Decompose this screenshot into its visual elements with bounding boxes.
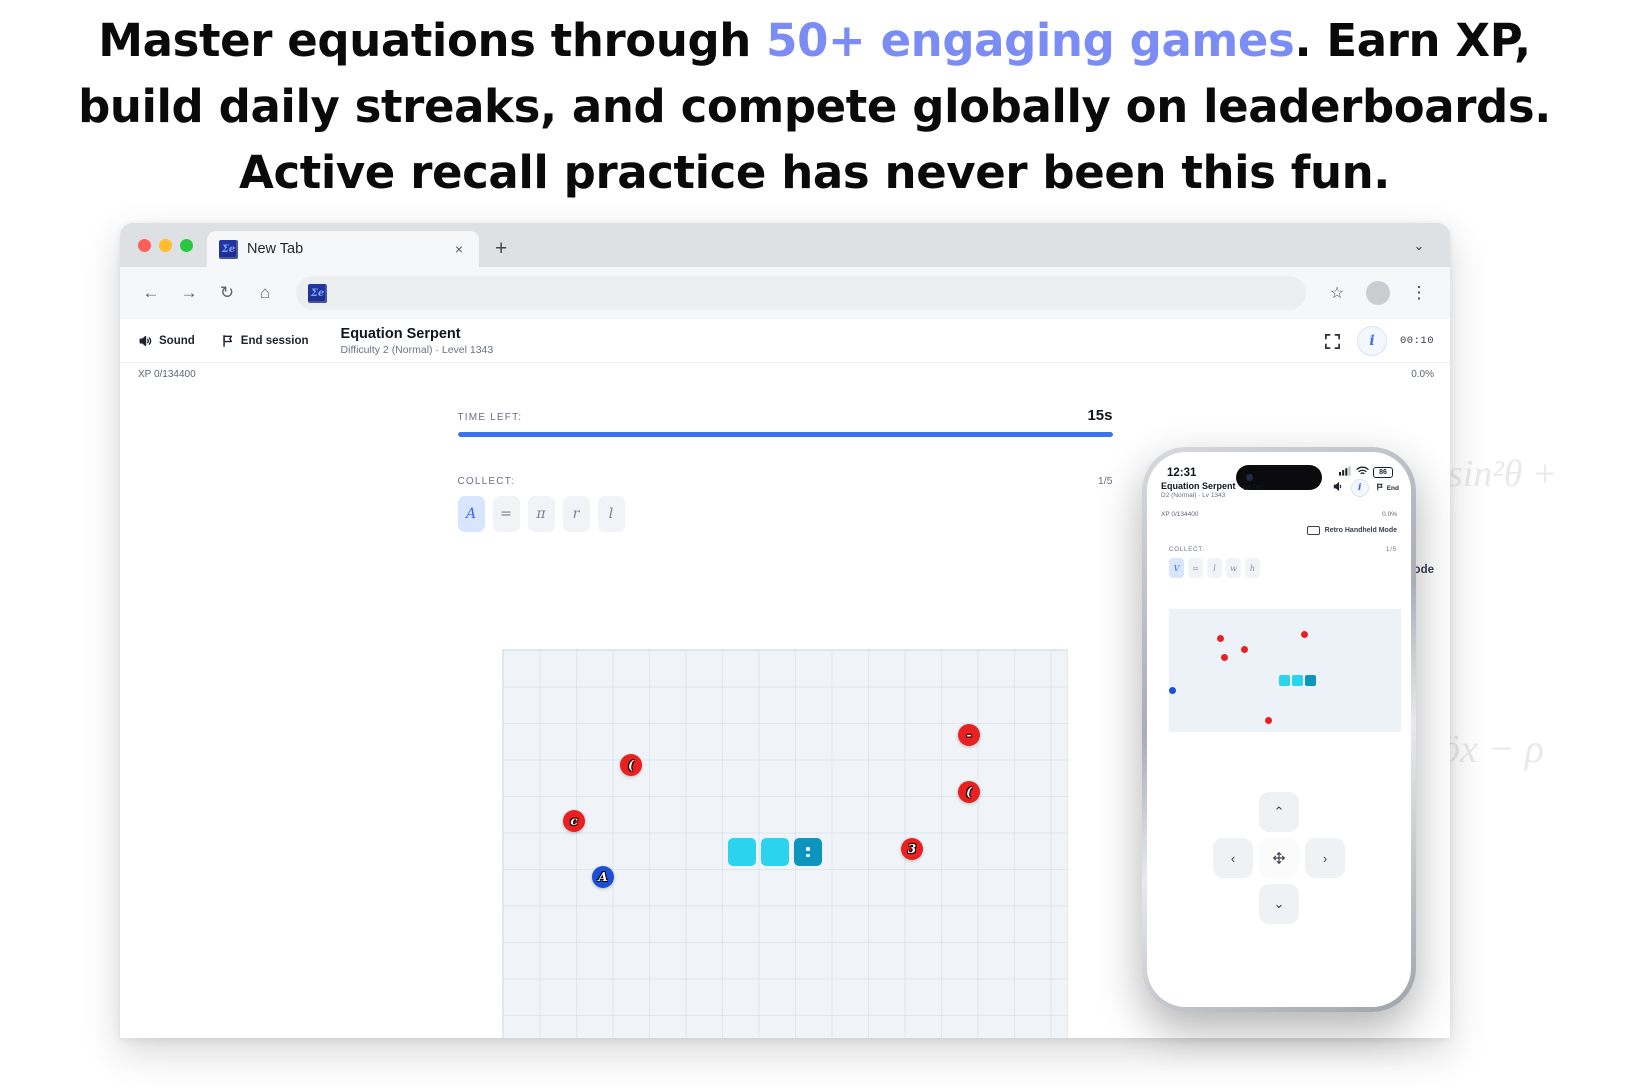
phone-snake-segment-0 [1279,675,1290,686]
collect-count: 1/5 [1098,475,1113,487]
bookmark-star-icon[interactable]: ☆ [1320,276,1354,310]
phone-collect-tile-0: V [1169,558,1184,578]
snake-segment-1 [761,838,789,866]
phone-collect-count: 1/5 [1386,547,1397,553]
phone-collect-row: COLLECT: 1/5 [1169,547,1411,553]
phone-game-header: Equation Serpent D2 (Normal) · Lv 1343 0… [1147,479,1411,499]
phone-status-icons: 86 [1339,466,1393,479]
back-icon[interactable]: ← [134,276,168,310]
board-token-4: ( [958,781,980,803]
phone-flag-icon [1376,483,1384,493]
flag-icon [221,334,235,348]
phone-collect-tile-1: = [1188,558,1203,578]
phone-snake-segment-1 [1292,675,1303,686]
headline-highlight: 50+ engaging games [766,14,1294,67]
page-headline: Master equations through 50+ engaging ga… [0,8,1629,206]
info-icon[interactable]: i [1357,326,1387,356]
end-session-label: End session [241,335,309,347]
phone-board-token-3 [1301,631,1308,638]
dpad-center-move-icon[interactable] [1259,838,1299,878]
phone-collect-tiles: V=lwh [1169,558,1411,578]
new-tab-button[interactable]: + [479,231,523,267]
phone-speaker-icon[interactable] [1333,479,1344,497]
battery-indicator: 86 [1373,467,1393,478]
phone-board-token-2 [1241,646,1248,653]
phone-end-button[interactable]: End [1376,483,1399,493]
header-actions: i 00:10 [1322,319,1434,363]
xp-text: XP 0/134400 [138,369,196,380]
phone-game-board[interactable] [1169,609,1401,732]
phone-end-label: End [1387,485,1399,492]
progress-percent: 0.0% [1411,369,1434,380]
chevron-down-icon[interactable]: ⌄ [1406,233,1432,259]
phone-collect-tile-2: l [1207,558,1222,578]
tab-close-icon[interactable]: × [449,241,469,257]
phone-xp-row: XP 0/134400 0.0% [1147,499,1411,518]
browser-toolbar: ← → ↻ ⌂ Σe ☆ ⋮ [120,267,1450,319]
end-session-button[interactable]: End session [221,334,309,348]
tab-title: New Tab [247,241,440,257]
phone-dpad: ⌃ ‹ › ⌄ [1213,792,1345,924]
doodle-0: sin²θ + [1448,452,1558,496]
board-token-0: ( [620,754,642,776]
profile-avatar[interactable] [1366,281,1390,305]
collect-label: COLLECT: [458,476,515,487]
phone-snake-segment-2 [1305,675,1316,686]
address-bar[interactable]: Σe [296,276,1306,310]
time-left-value: 15s [1087,407,1112,424]
phone-screen: 12:31 86 Equation Serpent D2 (Normal) · … [1147,452,1411,1007]
reload-icon[interactable]: ↻ [210,276,244,310]
collect-row: COLLECT: 1/5 [458,475,1113,487]
browser-tabstrip: Σe New Tab × + ⌄ [120,223,1450,267]
time-left-label: TIME LEFT: [458,412,523,423]
browser-tab[interactable]: Σe New Tab × [207,231,479,267]
close-window-button[interactable] [138,239,151,252]
time-left-row: TIME LEFT: 15s [458,407,1113,424]
home-icon[interactable]: ⌂ [248,276,282,310]
phone-board-token-1 [1221,654,1228,661]
time-progress-fill [458,432,1113,437]
dpad-up-button[interactable]: ⌃ [1259,792,1299,832]
collect-tile-2: π [528,496,555,532]
fullscreen-icon[interactable] [1322,330,1344,352]
speaker-icon [138,334,153,348]
game-title: Equation Serpent [341,326,494,342]
collect-tile-4: l [598,496,625,532]
phone-collect-label: COLLECT: [1169,547,1205,553]
phone-board-token-4 [1265,717,1272,724]
collect-tile-0: A [458,496,485,532]
dpad-down-button[interactable]: ⌄ [1259,884,1299,924]
phone-board-token-0 [1217,635,1224,642]
site-favicon-icon: Σe [308,284,327,303]
cellular-signal-icon [1339,466,1352,479]
collect-tiles: A=πrl [458,496,1113,532]
phone-timer: 00:01 [1243,485,1264,493]
dpad-left-button[interactable]: ‹ [1213,838,1253,878]
board-token-1: c [563,810,585,832]
snake-segment-0 [728,838,756,866]
wifi-icon [1356,466,1369,479]
phone-header-actions: i End [1333,479,1399,497]
game-inner: TIME LEFT: 15s COLLECT: 1/5 A=πrl [458,407,1113,532]
phone-progress-percent: 0.0% [1382,511,1397,518]
phone-collect-tile-4: h [1245,558,1260,578]
maximize-window-button[interactable] [180,239,193,252]
snake-segment-2 [794,838,822,866]
phone-xp-text: XP 0/134400 [1161,511,1198,518]
header-timer: 00:10 [1400,335,1434,347]
window-controls[interactable] [134,223,207,267]
game-title-block: Equation Serpent Difficulty 2 (Normal) ·… [341,326,494,356]
collect-tile-3: r [563,496,590,532]
board-token-3: - [958,724,980,746]
phone-board-token-5 [1169,687,1176,694]
doodle-1: öx − ρ [1440,725,1544,772]
phone-clock: 12:31 [1167,467,1196,479]
sound-button[interactable]: Sound [138,334,195,348]
board-token-2: A [592,866,614,888]
time-progress-bar [458,432,1113,437]
phone-mockup: 12:31 86 Equation Serpent D2 (Normal) · … [1142,447,1416,1012]
dpad-right-button[interactable]: › [1305,838,1345,878]
game-subtitle: Difficulty 2 (Normal) · Level 1343 [341,344,494,356]
browser-menu-icon[interactable]: ⋮ [1402,276,1436,310]
collect-tile-1: = [493,496,520,532]
sound-label: Sound [159,335,195,347]
forward-icon[interactable]: → [172,276,206,310]
headline-part1: Master equations through [98,14,766,67]
phone-retro-label: Retro Handheld Mode [1325,527,1397,534]
tab-favicon-icon: Σe [219,240,238,259]
game-board[interactable]: (cA-(3 [502,649,1068,1038]
board-token-5: 3 [901,838,923,860]
phone-retro-handheld-button[interactable]: Retro Handheld Mode [1147,518,1411,535]
phone-collect-tile-3: w [1226,558,1241,578]
minimize-window-button[interactable] [159,239,172,252]
phone-collect-section: COLLECT: 1/5 V=lwh [1147,535,1411,578]
phone-info-icon[interactable]: i [1351,479,1369,497]
game-app-header: Sound End session Equation Serpent Diffi… [120,319,1450,363]
phone-gamepad-icon [1307,526,1320,535]
xp-row: XP 0/134400 0.0% [120,363,1450,385]
